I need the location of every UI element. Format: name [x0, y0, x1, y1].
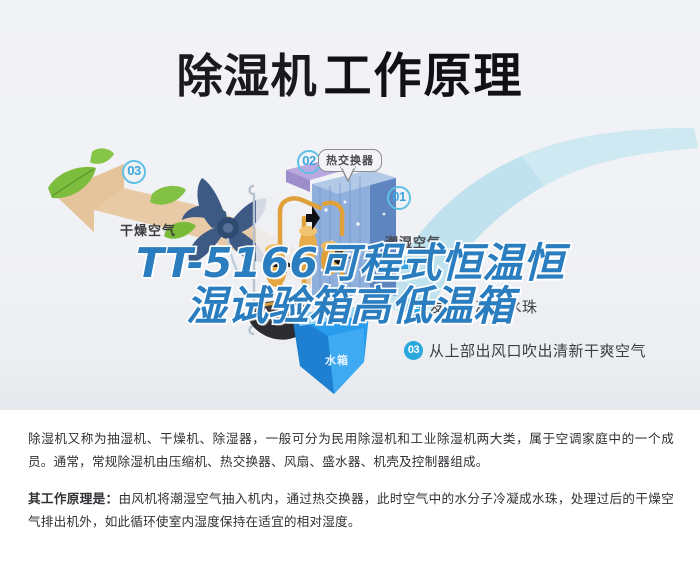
fan-blade-graphic: [168, 168, 286, 288]
label-humid-air: 潮湿空气: [385, 232, 441, 251]
leaf-icon: [150, 186, 186, 205]
air-inlet-arrow-icon: [372, 256, 408, 274]
dry-air-arrow-graphic: [52, 158, 322, 293]
watermark-overlay: TT-5166可程式恒温恒 湿试验箱高低温箱: [0, 242, 700, 328]
leaf-icon: [48, 167, 96, 198]
annotation-text-02: 发器冷凝成水珠: [429, 298, 538, 316]
badge-step-03-dry-air: 03: [122, 160, 146, 184]
watermark-line-2: 湿试验箱高低温箱: [0, 285, 700, 328]
illustration-panel: 除湿机工作原理: [0, 0, 700, 410]
badge-step-01-humid-air: 01: [387, 186, 411, 210]
page-title-part2: 工作原理: [323, 48, 523, 104]
paragraph-principle: 其工作原理是：由风机将潮湿空气抽入机内，通过热交换器，此时空气中的水分子冷凝成水…: [28, 487, 674, 533]
annotation-step-03: 03从上部出风口吹出清新干爽空气: [404, 340, 646, 361]
water-tank: [292, 306, 370, 394]
leaf-icon: [90, 148, 114, 164]
page-title: 除湿机工作原理: [0, 36, 700, 106]
annotation-badge-03: 03: [404, 341, 423, 360]
paragraph-principle-rest: 由风机将潮湿空气抽入机内，通过热交换器，此时空气中的水分子冷凝成水珠，处理过后的…: [28, 491, 674, 529]
humid-air-flow-graphic: [372, 128, 700, 318]
label-dry-air: 干燥空气: [120, 220, 176, 239]
annotation-step-02: 02发器冷凝成水珠: [404, 296, 538, 317]
annotation-badge-02: 02: [404, 297, 423, 316]
page-title-part1: 除湿机: [176, 49, 317, 103]
watermark-line-1: TT-5166可程式恒温恒: [0, 242, 700, 285]
refrigerant-coil: [280, 199, 342, 313]
dehumidifier-infographic-page: 除湿机工作原理: [0, 0, 700, 566]
compressor-body: [265, 226, 339, 287]
callout-pointer-icon: [339, 166, 357, 182]
body-copy-section: 除湿机又称为抽湿机、干燥机、除湿器，一般可分为民用除湿机和工业除湿机两大类，属于…: [0, 410, 700, 566]
base-and-water-tank-graphic: [238, 300, 418, 400]
annotation-text-03: 从上部出风口吹出清新干爽空气: [429, 342, 646, 360]
leaf-icon-group: [34, 146, 204, 256]
flow-arrow-icon: [271, 206, 351, 273]
label-water-tank: 水箱: [325, 352, 349, 368]
paragraph-principle-lead: 其工作原理是：: [28, 491, 118, 506]
paragraph-overview: 除湿机又称为抽湿机、干燥机、除湿器，一般可分为民用除湿机和工业除湿机两大类，属于…: [28, 427, 674, 473]
